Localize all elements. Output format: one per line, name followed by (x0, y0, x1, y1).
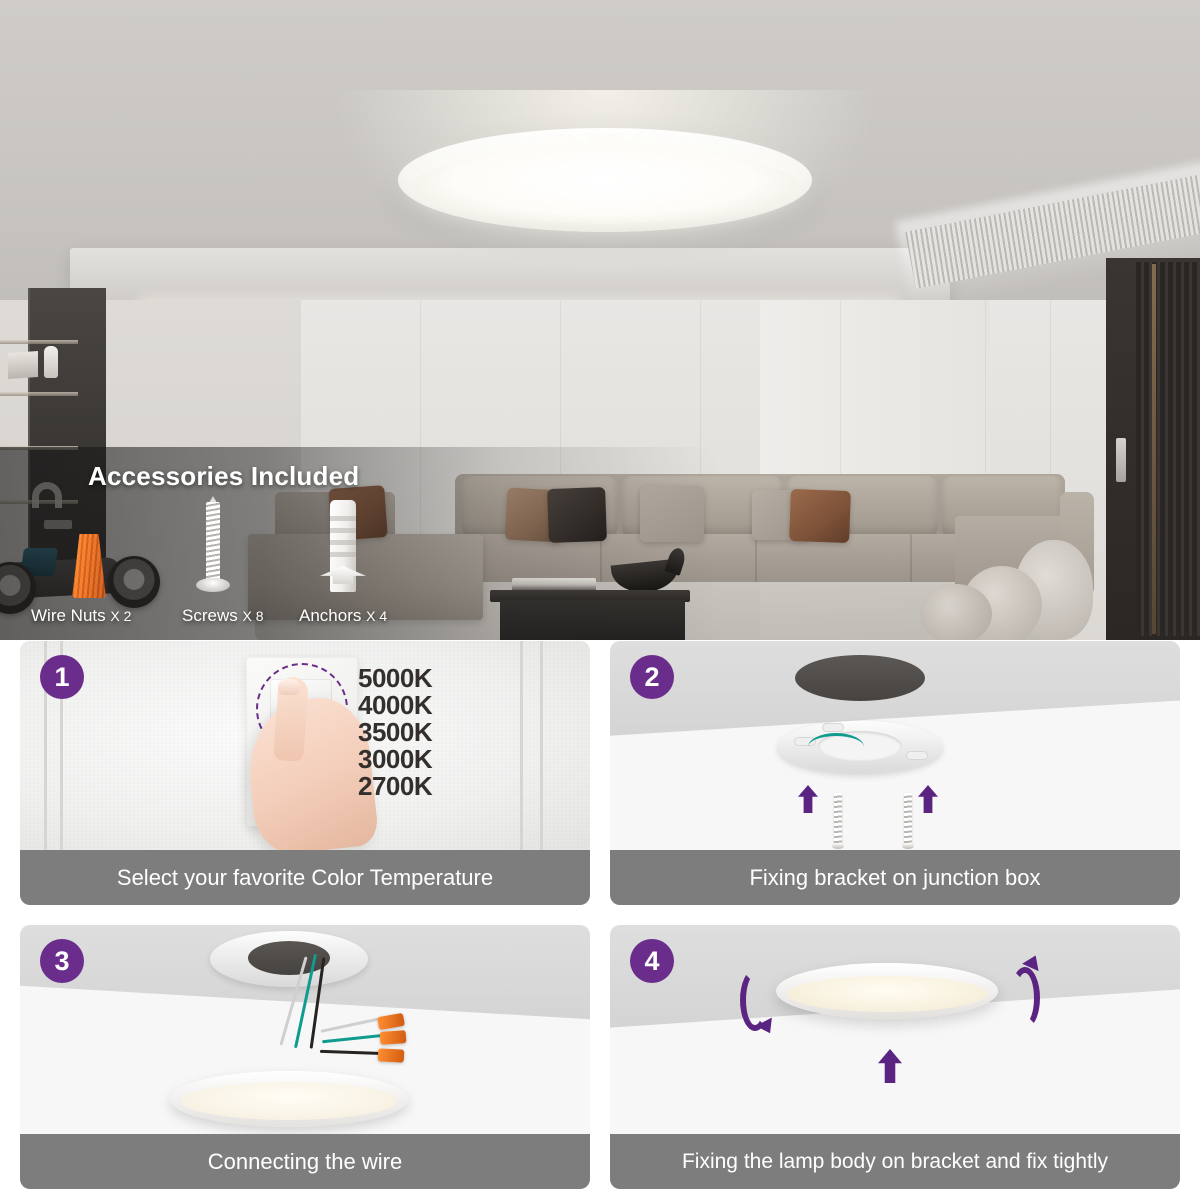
accessory-qty: X 8 (242, 608, 263, 624)
shelf-edge (0, 392, 78, 396)
wall-groove (540, 641, 543, 850)
step-number-badge: 4 (630, 939, 674, 983)
step-number-badge: 2 (630, 655, 674, 699)
color-temp-option: 5000K (358, 665, 432, 692)
step-number-badge: 3 (40, 939, 84, 983)
wire-nut (380, 1030, 407, 1045)
screw-head (196, 578, 230, 592)
junction-box-opening (248, 941, 330, 975)
mounting-screw (834, 793, 842, 847)
accessory-label-wire-nuts: Wire Nuts X 2 (31, 606, 131, 626)
color-temp-option: 3000K (358, 746, 432, 773)
step-card-2: 2 Fixing bracket on junction box (610, 641, 1180, 905)
lamp-diffuser (787, 976, 987, 1012)
accessory-name: Wire Nuts (31, 606, 106, 625)
fingernail (278, 679, 300, 695)
color-temp-option: 4000K (358, 692, 432, 719)
step-card-1: 5000K 4000K 3500K 3000K 2700K 1 Select y… (20, 641, 590, 905)
accessory-label-anchors: Anchors X 4 (299, 606, 387, 626)
anchor-notch (330, 552, 356, 557)
step-3-caption-bar: Connecting the wire (20, 1134, 590, 1189)
anchor-notch (330, 540, 356, 545)
hero-room-scene: Accessories Included Wire Nuts X 2 Screw… (0, 0, 1200, 640)
step-caption: Connecting the wire (208, 1151, 402, 1173)
lamp-body (170, 1071, 408, 1127)
ceiling-light-product (398, 128, 812, 232)
color-temp-option: 2700K (358, 773, 432, 800)
product-infographic: EASY INSTALLATION (0, 0, 1200, 1200)
color-temperature-list: 5000K 4000K 3500K 3000K 2700K (358, 665, 432, 800)
lamp-diffuser (181, 1082, 397, 1120)
shelf-edge (0, 340, 78, 344)
accessory-qty: X 4 (366, 608, 387, 624)
wall-groove (520, 641, 523, 850)
step-caption: Select your favorite Color Temperature (117, 867, 493, 889)
screw-head (832, 843, 844, 849)
anchor-notch (330, 528, 356, 533)
bracket-slot (906, 751, 928, 760)
accessories-title: Accessories Included (88, 461, 359, 492)
color-temp-option: 3500K (358, 719, 432, 746)
screw-icon (206, 502, 220, 584)
rotate-arrow-right-icon (1010, 967, 1040, 1029)
step-4-illustration (610, 925, 1180, 1134)
step-3-illustration (20, 925, 590, 1134)
step-1-caption-bar: Select your favorite Color Temperature (20, 850, 590, 905)
step-4-caption-bar: Fixing the lamp body on bracket and fix … (610, 1134, 1180, 1189)
shelf-vase (44, 346, 58, 378)
step-number-badge: 1 (40, 655, 84, 699)
accessory-qty: X 2 (110, 608, 131, 624)
lamp-diffuser (412, 148, 798, 224)
accessory-name: Screws (182, 606, 238, 625)
step-2-illustration (610, 641, 1180, 850)
step-card-4: 4 Fixing the lamp body on bracket and fi… (610, 925, 1180, 1189)
screw-head (902, 843, 914, 849)
shelf-books (8, 351, 38, 379)
accessory-name: Anchors (299, 606, 361, 625)
mounting-screw (904, 793, 912, 847)
junction-box (795, 655, 925, 701)
step-caption: Fixing bracket on junction box (749, 867, 1040, 889)
wire-nut (378, 1048, 405, 1062)
step-2-caption-bar: Fixing bracket on junction box (610, 850, 1180, 905)
lamp-body (776, 963, 998, 1019)
step-caption: Fixing the lamp body on bracket and fix … (682, 1151, 1108, 1172)
installation-steps-grid: 5000K 4000K 3500K 3000K 2700K 1 Select y… (20, 641, 1180, 1189)
step-card-3: 3 Connecting the wire (20, 925, 590, 1189)
anchor-notch (330, 516, 356, 521)
step-1-illustration: 5000K 4000K 3500K 3000K 2700K (20, 641, 590, 850)
accessory-label-screws: Screws X 8 (182, 606, 263, 626)
bracket-slot (822, 723, 844, 732)
